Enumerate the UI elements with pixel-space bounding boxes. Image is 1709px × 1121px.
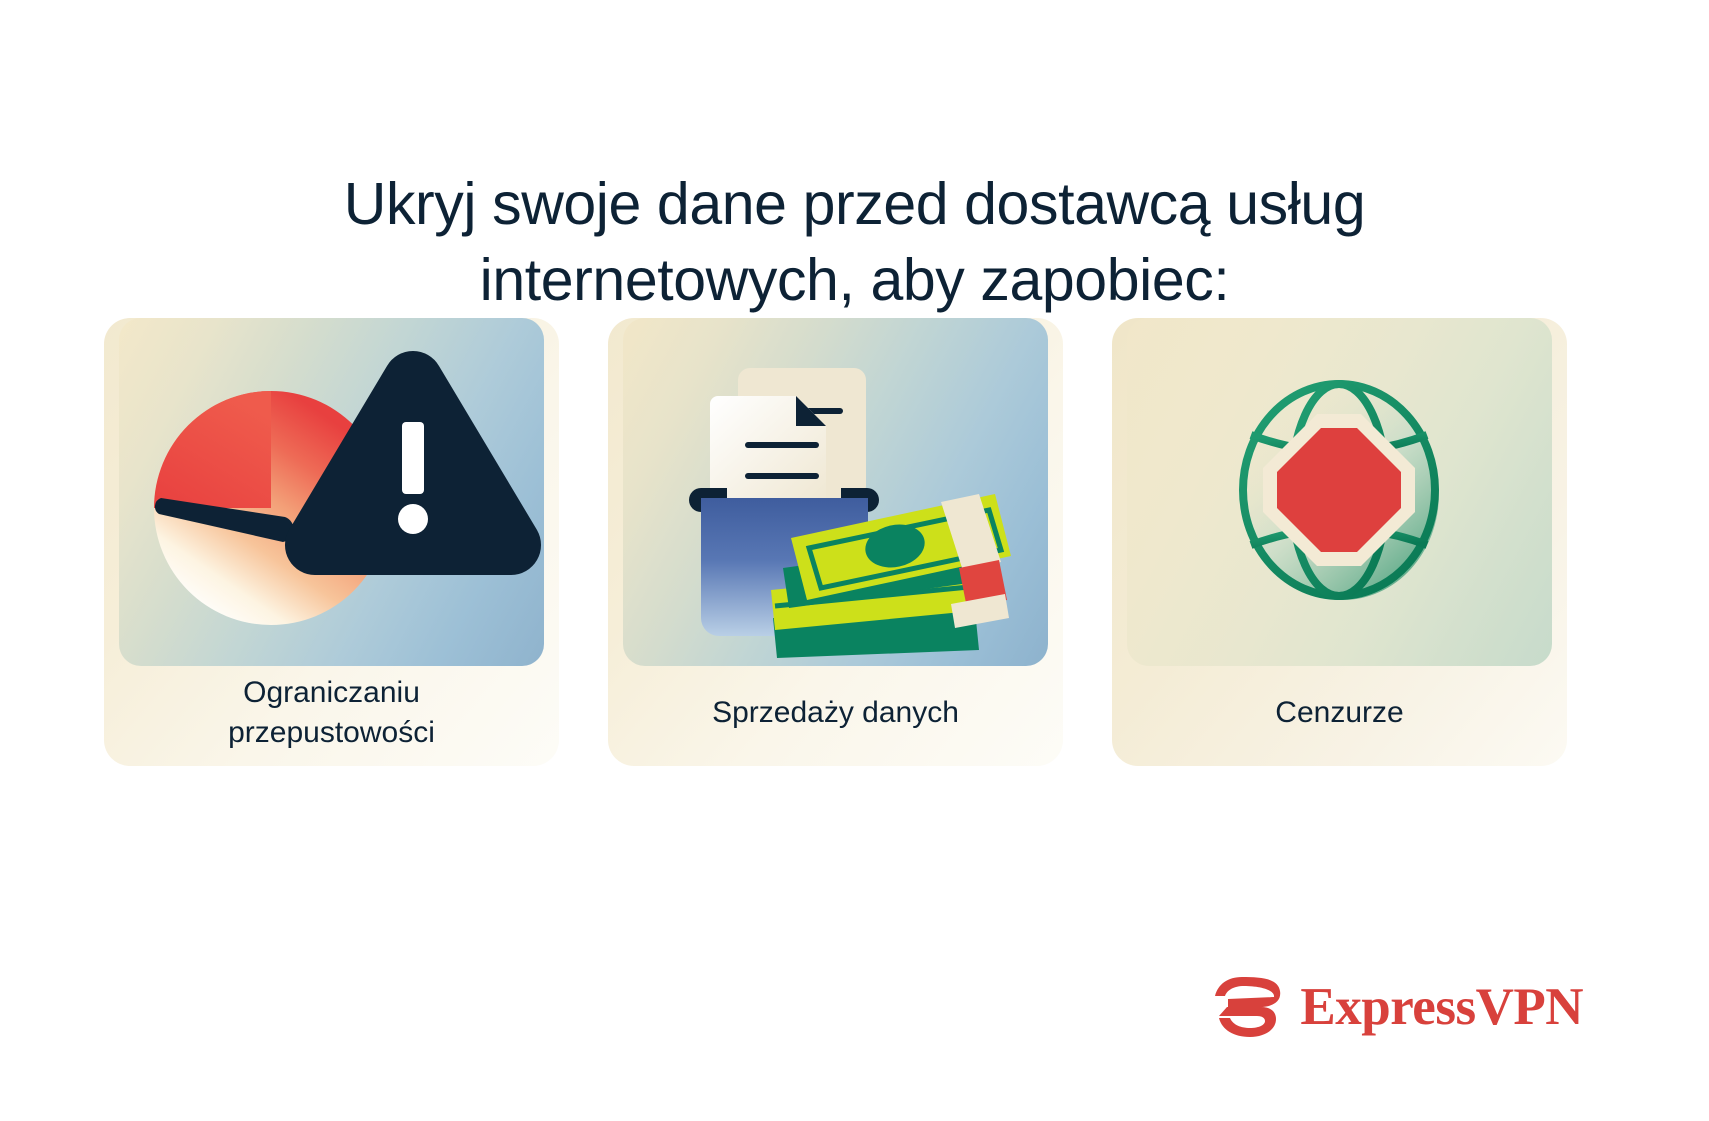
infographic-page: Ukryj swoje dane przed dostawcą usług in…	[0, 0, 1709, 1121]
card-throttling-caption-line-1: Ograniczaniu	[228, 673, 435, 713]
card-data-selling-illustration-panel	[623, 318, 1048, 666]
card-throttling-caption-line-2: przepustowości	[228, 713, 435, 753]
card-censorship-caption: Cenzurze	[1112, 666, 1567, 766]
card-data-selling[interactable]: Sprzedaży danych	[608, 318, 1063, 766]
expressvpn-e-logo-icon	[1214, 976, 1286, 1038]
card-censorship-illustration-panel	[1127, 318, 1552, 666]
card-censorship-caption-line-1: Cenzurze	[1275, 693, 1403, 733]
card-throttling-caption: Ograniczaniu przepustowości	[104, 666, 559, 766]
page-title: Ukryj swoje dane przed dostawcą usług in…	[0, 166, 1709, 319]
card-censorship[interactable]: Cenzurze	[1112, 318, 1567, 766]
card-data-selling-caption-line-1: Sprzedaży danych	[712, 693, 959, 733]
card-data-selling-caption: Sprzedaży danych	[608, 666, 1063, 766]
page-title-line-2: internetowych, aby zapobiec:	[220, 242, 1489, 319]
globe-stop-sign-icon	[1127, 318, 1552, 666]
speedometer-warning-icon	[119, 318, 544, 666]
card-throttling[interactable]: Ograniczaniu przepustowości	[104, 318, 559, 766]
benefit-card-list: Ograniczaniu przepustowości	[104, 318, 1568, 766]
page-title-line-1: Ukryj swoje dane przed dostawcą usług	[344, 171, 1366, 237]
expressvpn-logo[interactable]: ExpressVPN	[1214, 976, 1583, 1038]
folder-documents-money-icon	[623, 318, 1048, 666]
expressvpn-wordmark: ExpressVPN	[1300, 981, 1583, 1034]
card-throttling-illustration-panel	[119, 318, 544, 666]
